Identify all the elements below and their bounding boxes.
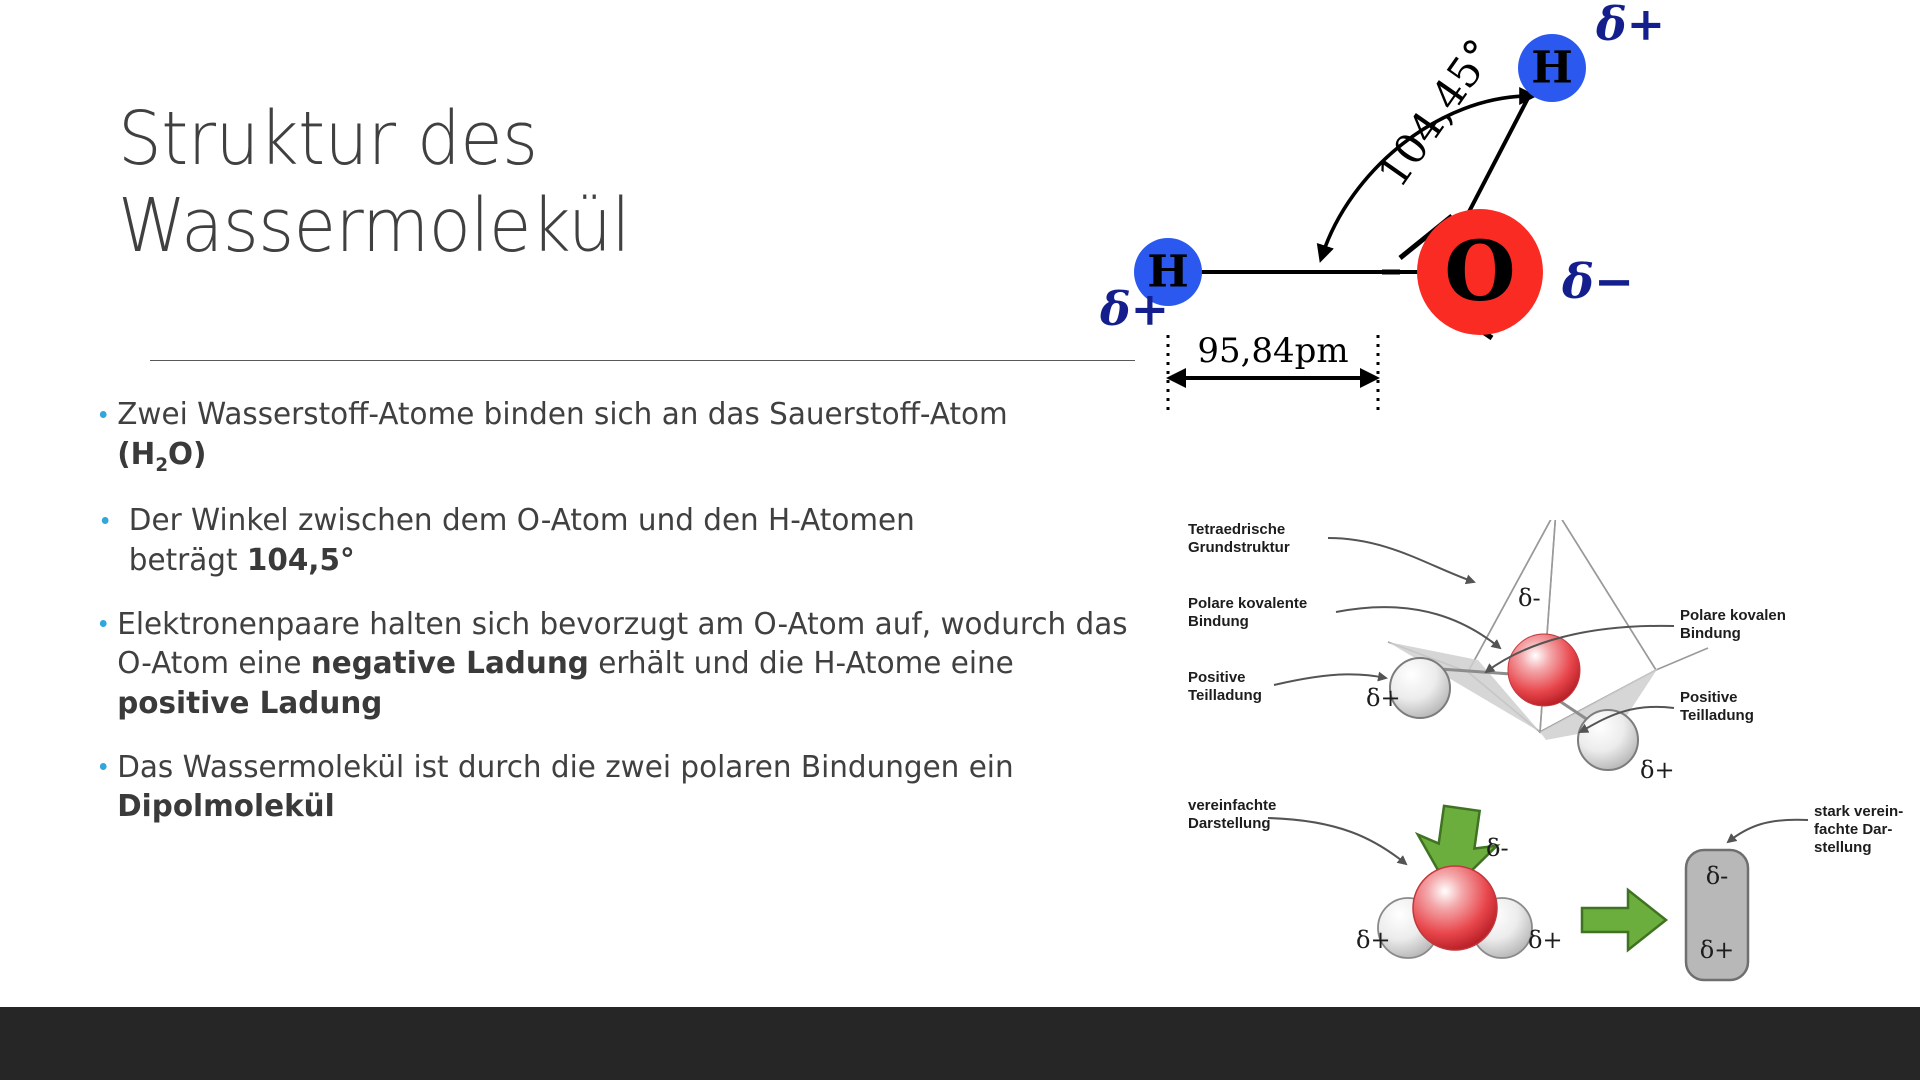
water-molecule-figure: 104,45° O δ− H δ+ H δ+ 95,84pm xyxy=(1100,0,1920,500)
simple-delta-plus-left-label: δ+ xyxy=(1356,926,1391,954)
list-item: Der Winkel zwischen dem O-Atom und den H… xyxy=(96,501,1138,580)
list-item: Das Wassermolekül ist durch die zwei pol… xyxy=(96,748,1138,827)
label-positive-teilladung-left: Positive Teilladung xyxy=(1188,669,1291,704)
bond-angle-label: 104,45° xyxy=(1368,30,1504,196)
positive-charge-term: positive Ladung xyxy=(117,686,382,721)
green-right-arrow-icon xyxy=(1582,890,1666,950)
chemical-formula: (H2O) xyxy=(117,437,206,472)
list-item: Elektronenpaare halten sich bevorzugt am… xyxy=(96,605,1138,724)
bullet-text-line1: Der Winkel zwischen dem O-Atom und den H… xyxy=(129,503,915,538)
simple-delta-minus-label: δ- xyxy=(1486,834,1509,862)
bullet-dot-icon xyxy=(102,517,109,524)
hydrogen-top-charge-label: δ+ xyxy=(1595,0,1665,51)
bullet-text-line2: beträgt xyxy=(129,543,247,578)
label-tetraedrische: Tetraedrische Grundstruktur xyxy=(1188,521,1323,556)
box-delta-plus-label: δ+ xyxy=(1700,936,1735,964)
angle-value: 104,5° xyxy=(247,543,355,578)
tetra-hydrogen-sphere-right xyxy=(1578,710,1638,770)
slide-canvas: Struktur des Wassermolekül Zwei Wasserst… xyxy=(0,0,1920,1080)
label-positive-teilladung-right: Positive Teilladung xyxy=(1680,689,1783,724)
water-molecule-svg: 104,45° O δ− H δ+ H δ+ 95,84pm xyxy=(1100,0,1920,500)
label-vereinfachte: vereinfachte Darstellung xyxy=(1188,797,1314,832)
simple-delta-plus-right-label: δ+ xyxy=(1528,926,1563,954)
list-item: Zwei Wasserstoff-Atome binden sich an da… xyxy=(96,395,1138,477)
label-polare-kovalente-right: Polare kovalen Bindung xyxy=(1680,607,1823,642)
bond-length-label: 95,84pm xyxy=(1197,331,1348,371)
hydrogen-left-charge-label: δ+ xyxy=(1100,282,1169,336)
tetrahedral-svg: δ- δ+ δ+ Tetraedrische Grundstruktur xyxy=(1188,520,1918,1005)
simple-oxygen-sphere xyxy=(1413,866,1497,950)
tetra-delta-plus-left-label: δ+ xyxy=(1366,684,1401,712)
bullet-dot-icon xyxy=(100,620,107,627)
bullet-text-seg3: erhält und die H-Atome eine xyxy=(589,646,1014,681)
tetra-delta-minus-label: δ- xyxy=(1518,584,1541,612)
bullet-text-line1: Zwei Wasserstoff-Atome binden sich an da… xyxy=(117,397,1007,432)
tetra-delta-plus-right-label: δ+ xyxy=(1640,756,1675,784)
bullet-dot-icon xyxy=(100,763,107,770)
stark-vereinfachte-leader-line xyxy=(1728,820,1808,842)
box-delta-minus-label: δ- xyxy=(1706,862,1729,890)
tetrahedral-figure: δ- δ+ δ+ Tetraedrische Grundstruktur xyxy=(1188,520,1918,1005)
tetra-oxygen-sphere xyxy=(1508,634,1580,706)
bond-length-dimension: 95,84pm xyxy=(1168,331,1378,412)
title-block: Struktur des Wassermolekül xyxy=(118,96,1138,271)
bullet-text-seg1: Das Wassermolekül ist durch die zwei pol… xyxy=(117,750,1013,785)
label-stark-vereinfachte: stark verein- fachte Dar- stellung xyxy=(1814,803,1918,856)
title-divider xyxy=(150,360,1135,361)
negative-charge-term: negative Ladung xyxy=(311,646,589,681)
footer-bar xyxy=(0,1007,1920,1080)
oxygen-charge-label: δ− xyxy=(1561,254,1634,310)
page-title: Struktur des Wassermolekül xyxy=(118,96,1067,271)
hydrogen-top-label: H xyxy=(1531,43,1573,94)
oxygen-atom-label: O xyxy=(1444,224,1515,320)
label-polare-kovalente-left: Polare kovalente Bindung xyxy=(1188,595,1345,630)
body-content: Zwei Wasserstoff-Atome binden sich an da… xyxy=(96,395,1176,851)
dipole-term: Dipolmolekül xyxy=(117,789,334,824)
bullet-dot-icon xyxy=(100,411,107,418)
